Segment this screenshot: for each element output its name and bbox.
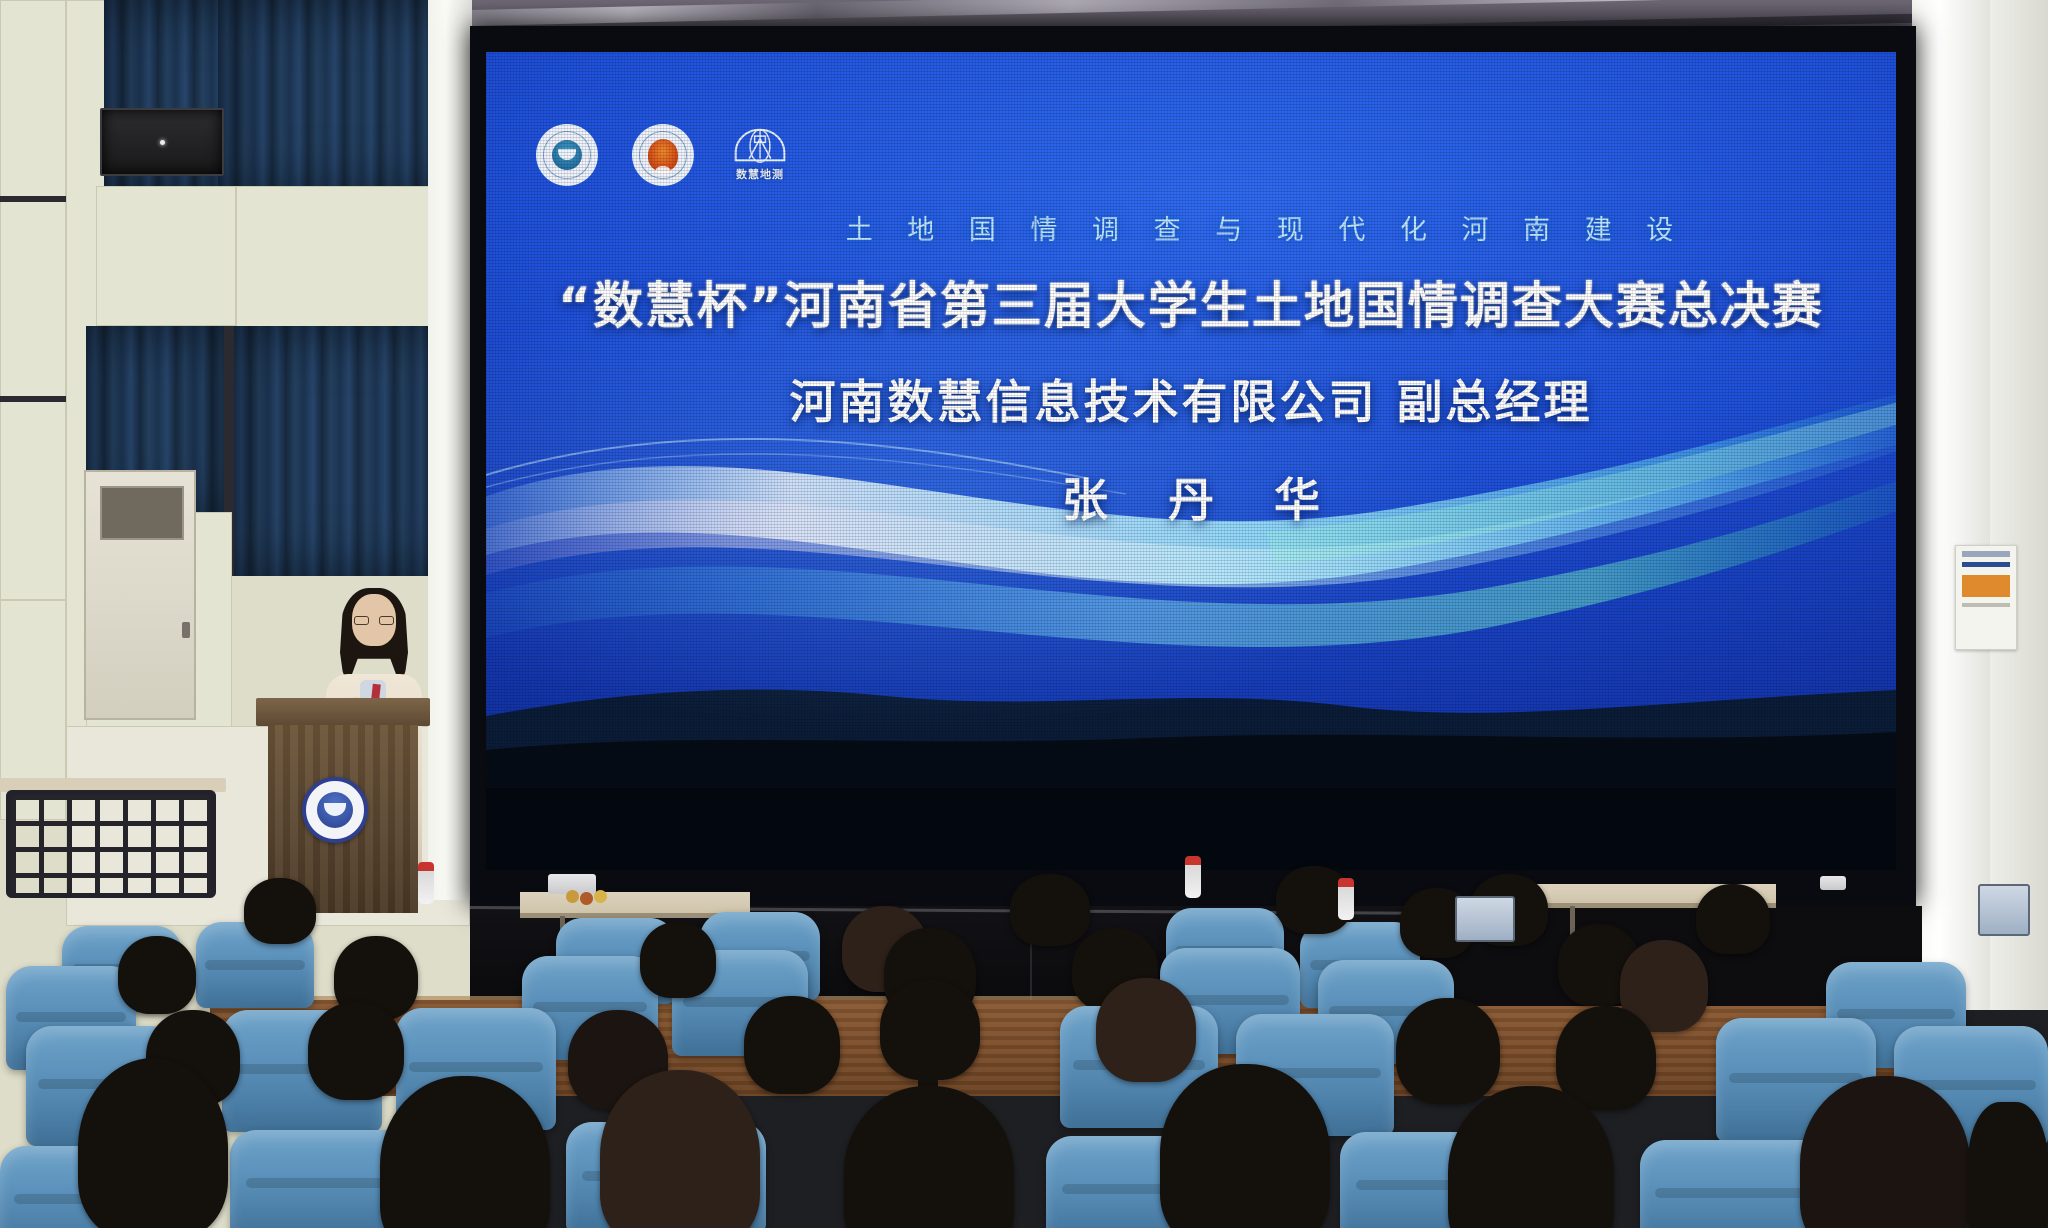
- wall-panel: [0, 400, 66, 600]
- pillar-left-of-screen: [428, 0, 472, 900]
- audience-head: [844, 1086, 1014, 1228]
- loudspeaker-box: [100, 108, 224, 176]
- screen-affiliation-line: 河南数慧信息技术有限公司 副总经理: [486, 366, 1896, 432]
- wall-panel-seam: [0, 396, 66, 402]
- logo-shuhui-caption: 数慧地测: [736, 166, 784, 182]
- logo-competition-flame-seal: [632, 124, 694, 186]
- fruit-item: [594, 890, 607, 903]
- water-bottle: [418, 862, 434, 904]
- audience-head: [1010, 874, 1090, 946]
- screen-headline: “数慧杯”河南省第三届大学生土地国情调查大赛总决赛: [486, 266, 1896, 338]
- audience-head: [308, 1002, 404, 1100]
- audience-head: [244, 878, 316, 944]
- audience-area: [0, 850, 2048, 1228]
- door-knob-icon[interactable]: [182, 622, 190, 638]
- speaker-indicator-led: [160, 140, 165, 145]
- screen-speaker-name: 张 丹 华: [486, 464, 1896, 530]
- globe-theodolite-icon: [730, 128, 790, 164]
- landscape-silhouette: [486, 620, 1896, 870]
- wall-panel: [0, 200, 66, 400]
- wall-panel: [96, 186, 236, 326]
- laptop: [1455, 896, 1515, 942]
- audience-head: [1968, 1102, 2048, 1228]
- screen-subtitle: 土 地 国 情 调 查 与 现 代 化 河 南 建 设: [486, 208, 1896, 247]
- glasses-icon: [354, 616, 394, 625]
- podium-top: [256, 698, 430, 726]
- audience-head: [600, 1070, 760, 1228]
- podium-university-crest: [302, 777, 368, 843]
- fruit-item: [580, 892, 593, 905]
- logo-henan-university-seal: [536, 124, 598, 186]
- audience-head: [1160, 1064, 1330, 1228]
- laptop: [1978, 884, 2030, 936]
- wall-notice-poster: [1955, 545, 2017, 650]
- door-window: [100, 486, 184, 540]
- audience-head: [78, 1058, 228, 1228]
- water-bottle: [1185, 856, 1201, 898]
- led-presentation-screen: 数慧地测 土 地 国 情 调 查 与 现 代 化 河 南 建 设 “数慧杯”河南…: [486, 52, 1896, 870]
- logo-shuhui-ditest: 数慧地测: [728, 128, 792, 182]
- curtain-lower-right: [232, 326, 450, 576]
- wall-panel: [0, 0, 66, 200]
- auditorium-scene: 数慧地测 土 地 国 情 调 查 与 现 代 化 河 南 建 设 “数慧杯”河南…: [0, 0, 2048, 1228]
- stage-side-door[interactable]: [84, 470, 196, 720]
- audience-head: [1396, 998, 1500, 1104]
- audience-head: [118, 936, 196, 1014]
- audience-head: [1096, 978, 1196, 1082]
- water-bottle: [1338, 878, 1354, 920]
- wall-panel-seam: [0, 196, 66, 202]
- fruit-item: [566, 890, 579, 903]
- audience-head: [640, 922, 716, 998]
- sponsor-logo-row: 数慧地测: [536, 124, 792, 186]
- audience-head: [1556, 1006, 1656, 1110]
- snack-container: [1820, 876, 1846, 890]
- audience-head: [1696, 884, 1770, 954]
- audience-head: [744, 996, 840, 1094]
